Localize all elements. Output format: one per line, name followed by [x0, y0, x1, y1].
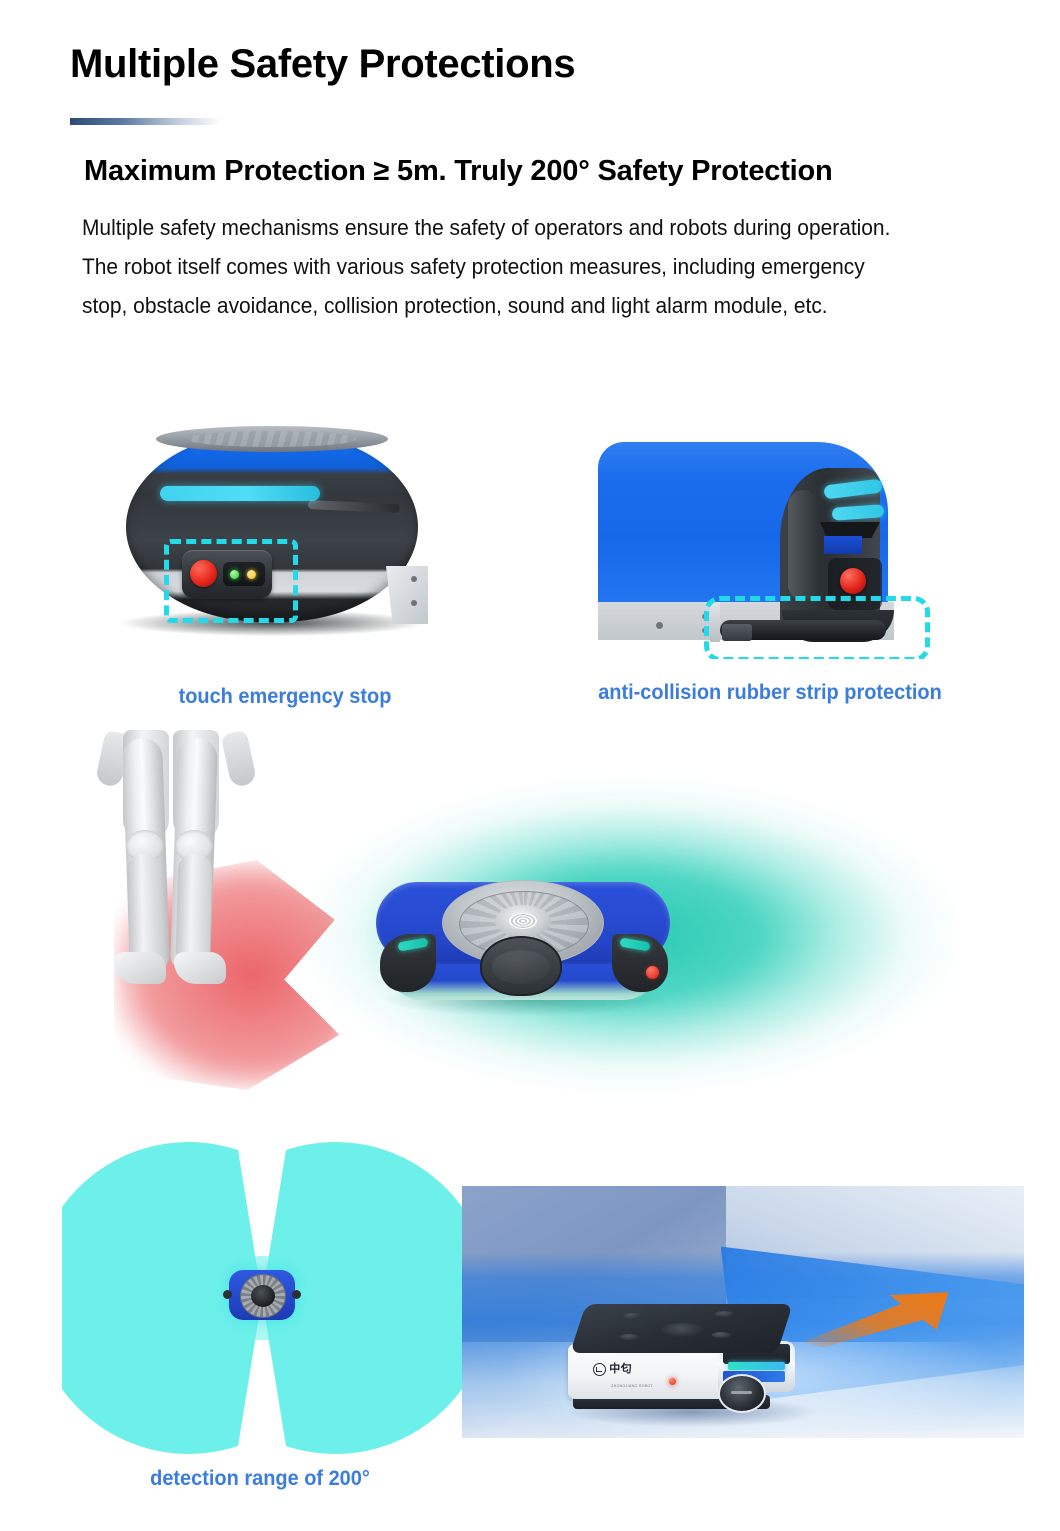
agv-top-pin: [715, 1311, 734, 1317]
emergency-stop-button[interactable]: [646, 966, 659, 979]
corner-sensor-pod-left: [380, 934, 436, 992]
operator-mannequin-legs: [78, 730, 278, 1020]
jacking-disc-hub: [495, 905, 551, 937]
mannequin-hand-right: [221, 730, 258, 788]
caption-anti-collision-rubber-strip: anti-collision rubber strip protection: [590, 680, 951, 706]
figure-agv-obstacle-avoidance-photo: 中匂 ZHONGJIANG ROBOT: [462, 1186, 1024, 1438]
robot-wheel-right-icon: [292, 1290, 301, 1299]
agv-robot: 中匂 ZHONGJIANG ROBOT: [558, 1302, 817, 1418]
page-title: Multiple Safety Protections: [70, 42, 575, 86]
body-copy: Multiple safety mechanisms ensure the sa…: [82, 208, 910, 325]
direction-arrow-icon: [799, 1282, 956, 1348]
caption-detection-range: detection range of 200°: [70, 1466, 450, 1492]
led-strip-icon: [160, 486, 320, 501]
agv-front-led-strip-icon: [728, 1362, 785, 1370]
jacking-disc-ring: [240, 1274, 286, 1318]
caption-touch-emergency-stop: touch emergency stop: [119, 684, 452, 710]
corner-sensor-pod-right: [612, 934, 668, 992]
mannequin-calf-right: [176, 854, 213, 959]
highlight-dashed-box: [704, 596, 930, 659]
body-paragraph-2: The robot itself comes with various safe…: [82, 247, 910, 325]
pod-led-strip-icon: [619, 937, 650, 951]
mannequin-foot-left: [114, 952, 166, 984]
agv-top-pin: [712, 1332, 731, 1338]
robot-wheel-left-icon: [223, 1290, 232, 1299]
emergency-stop-button[interactable]: [840, 568, 866, 594]
section-subtitle: Maximum Protection ≥ 5m. Truly 200° Safe…: [84, 155, 833, 188]
agv-top-center-hole: [660, 1324, 705, 1339]
brand-logo: 中匂: [593, 1363, 632, 1376]
agv-top-pin: [621, 1334, 640, 1340]
tower-blue-inset: [824, 536, 862, 554]
brand-logo-mark-icon: [593, 1363, 606, 1376]
jacking-disc-hub: [251, 1285, 275, 1307]
brand-logo-subtext: ZHONGJIANG ROBOT: [611, 1384, 653, 1388]
body-paragraph-1: Multiple safety mechanisms ensure the sa…: [82, 208, 910, 247]
highlight-dashed-box: [164, 539, 298, 623]
robot-isometric-view: [368, 878, 678, 1018]
pod-led-strip-icon: [397, 937, 428, 951]
mannequin-calf-left: [127, 854, 164, 959]
title-divider: [70, 118, 220, 125]
robot-top-view: [229, 1270, 295, 1320]
mannequin-foot-right: [174, 952, 226, 984]
agv-status-led-icon: [669, 1378, 676, 1385]
robot-jacking-disc: [156, 426, 388, 452]
agv-top-pin: [624, 1313, 643, 1319]
figure-detection-range-diagram: [62, 1142, 462, 1462]
tower-highlight: [788, 490, 818, 600]
front-obstacle-sensor: [480, 936, 562, 996]
figure-anti-collision-rubber-strip: [592, 424, 942, 659]
figure-touch-emergency-stop: [108, 424, 438, 649]
brand-logo-text: 中匂: [609, 1364, 632, 1375]
agv-top-plate: [570, 1304, 793, 1353]
side-access-plate: [386, 566, 428, 624]
figure-detection-field-scene: [60, 730, 1000, 1130]
agv-wheel-icon: [718, 1374, 766, 1413]
